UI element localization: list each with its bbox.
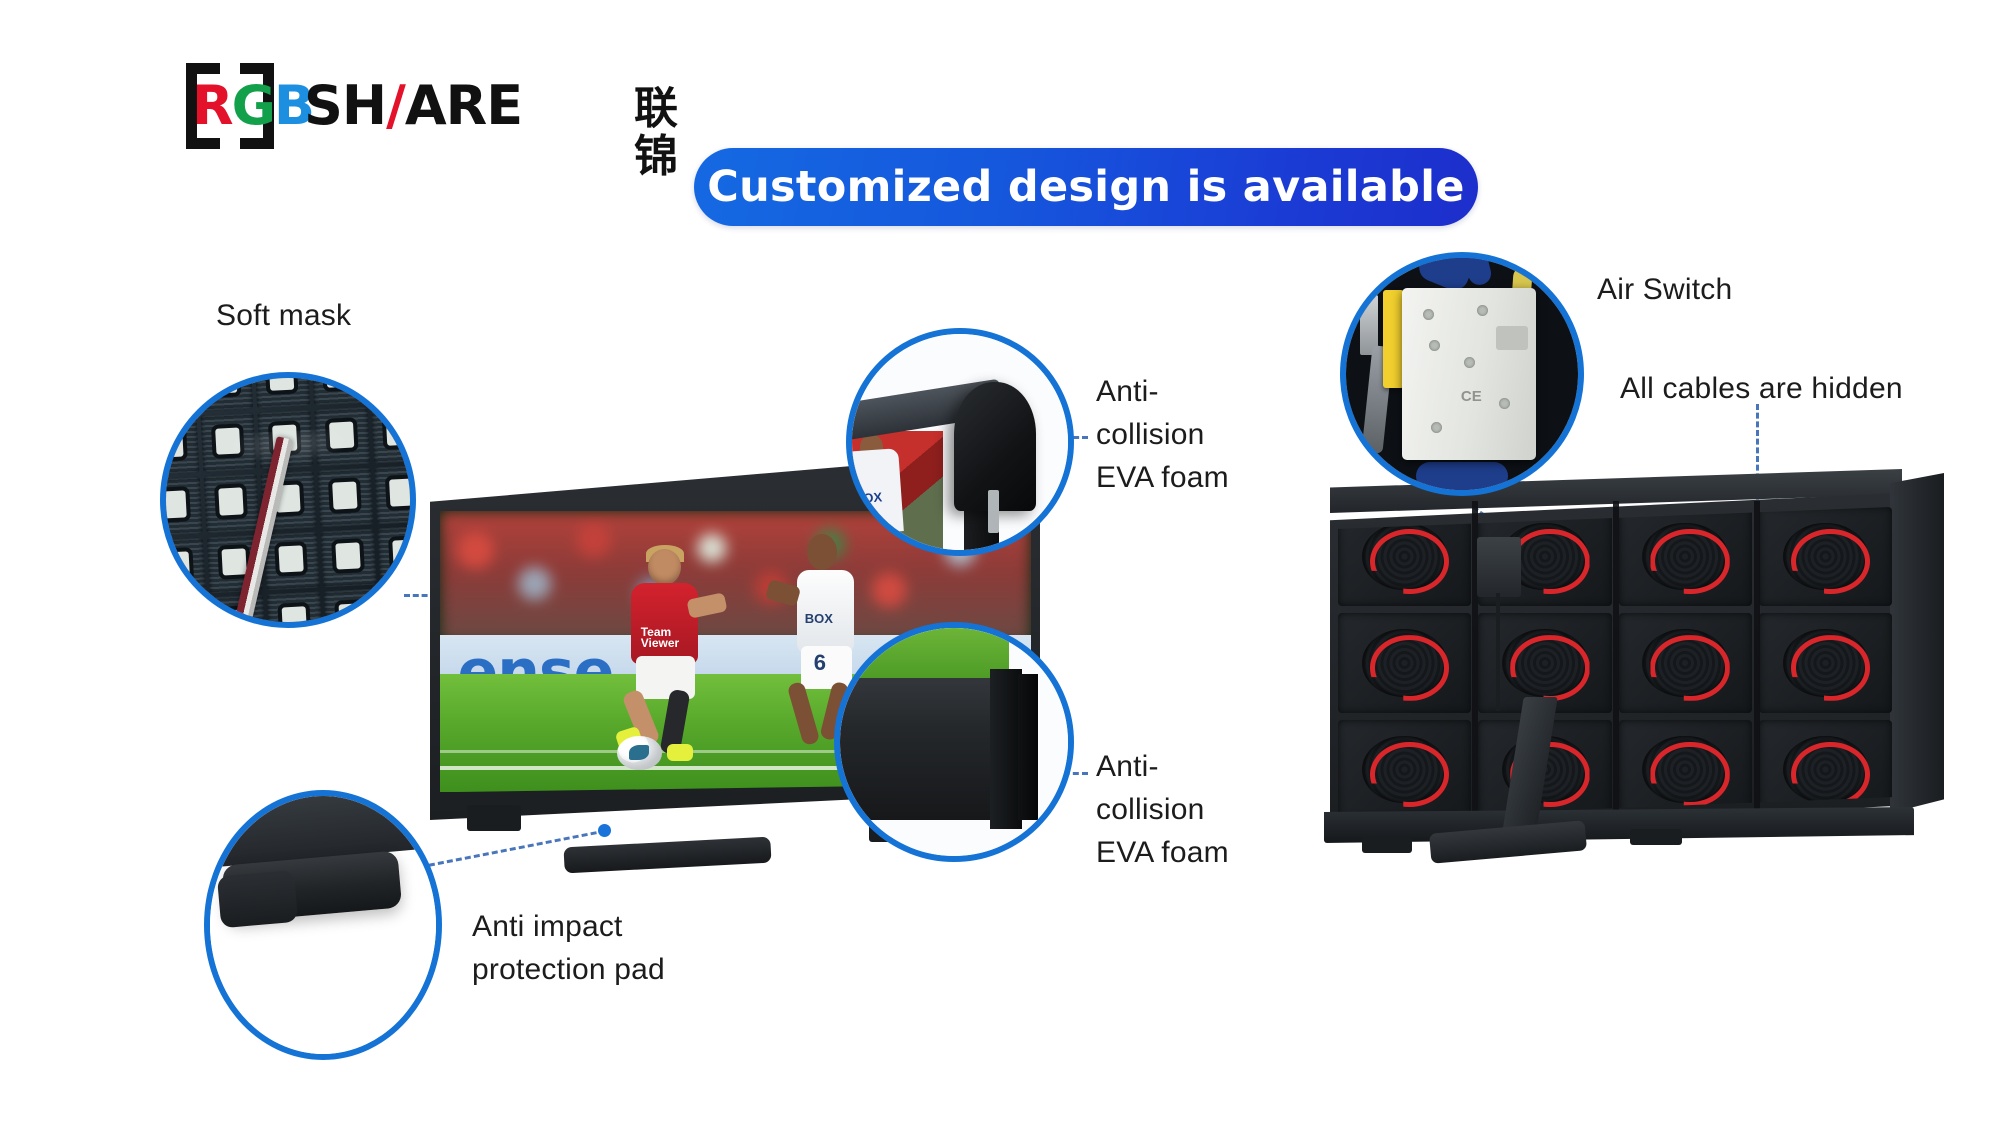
football-icon — [617, 736, 661, 770]
rgbshare-logo: RGB SH/ARE 联锦 — [186, 63, 576, 149]
logo-share-sh: SH — [304, 74, 386, 137]
led-module-surface-closeup — [160, 372, 416, 628]
breaker-body: CE — [1402, 288, 1537, 460]
air-switch-enclosure — [1477, 537, 1521, 597]
logo-letter-r: R — [192, 81, 232, 131]
logo-chinese-text: 联锦 — [634, 85, 678, 181]
red-kit-sponsor-text: Team Viewer — [641, 627, 698, 649]
soft-mask-callout — [160, 372, 416, 628]
switch-cable — [1496, 593, 1500, 711]
label-air-switch: Air Switch — [1597, 268, 1732, 311]
blue-wire — [1463, 252, 1493, 288]
cabinet-right-side — [1890, 473, 1944, 813]
white-kit-number: 6 — [814, 650, 826, 676]
corner-foam-protector: BOX — [852, 334, 1068, 550]
logo-rgb-text: RGB — [192, 81, 313, 131]
cabinet-module — [1759, 613, 1892, 712]
foam-bottom-bar — [834, 678, 1004, 819]
ce-mark-icon: CE — [1461, 388, 1482, 405]
eva-foam-bottom-callout — [834, 622, 1074, 862]
impact-pad-face — [217, 870, 298, 928]
label-all-cables-hidden: All cables are hidden — [1620, 367, 1903, 410]
panel-slot — [988, 490, 999, 533]
banner-title: Customized design is available — [707, 162, 1465, 212]
circuit-breaker: CE — [1346, 258, 1578, 490]
logo-share-slash: / — [386, 74, 405, 137]
blue-wire — [1416, 462, 1509, 490]
screen-fragment: BOX — [846, 431, 943, 556]
cabinet-module — [1619, 507, 1752, 606]
screen-grass-fragment — [834, 623, 1009, 682]
base-pad — [210, 796, 436, 1054]
cabinet-seam — [1613, 501, 1619, 819]
poster-canvas: RGB SH/ARE 联锦 Customized design is avail… — [0, 0, 2000, 1125]
anti-impact-pad-callout — [204, 790, 442, 1060]
cabinet-seam — [1754, 501, 1760, 819]
kit-sponsor-fragment: BOX — [854, 489, 883, 506]
cabinet-foot — [1630, 829, 1682, 845]
customized-design-banner: Customized design is available — [694, 148, 1478, 226]
cabinet-base-rail — [1324, 807, 1914, 843]
label-soft-mask: Soft mask — [216, 294, 351, 337]
eva-foam-top-callout: BOX — [846, 328, 1074, 556]
breaker-label-plate — [1496, 326, 1528, 350]
label-eva-foam-top: Anti- collision EVA foam — [1096, 370, 1229, 499]
display-foot-left — [467, 805, 522, 831]
bottom-edge-foam-protector — [840, 628, 1068, 856]
cabinet-module — [1338, 720, 1471, 819]
cabinet-module — [1619, 613, 1752, 712]
cabinet-module — [1759, 507, 1892, 606]
white-kit-sponsor-text: BOX — [805, 611, 833, 626]
display-stand-base — [564, 837, 772, 874]
label-anti-impact-pad: Anti impact protection pad — [472, 905, 665, 991]
logo-share-text: SH/ARE — [304, 81, 522, 131]
air-switch-callout: CE — [1340, 252, 1584, 496]
player-red-kit: Team Viewer — [605, 545, 723, 759]
logo-letter-g: G — [232, 81, 274, 131]
panel-right-edge-inner — [1018, 674, 1039, 820]
connector-dot-anti-impact-pad — [598, 824, 611, 837]
breaker-toggle-handle[interactable] — [1383, 290, 1404, 387]
logo-share-are: ARE — [405, 74, 522, 137]
cabinet-module — [1338, 613, 1471, 712]
label-eva-foam-bottom: Anti- collision EVA foam — [1096, 745, 1229, 874]
led-display-back-view — [1330, 455, 1960, 875]
cabinet-foot — [1362, 837, 1412, 853]
